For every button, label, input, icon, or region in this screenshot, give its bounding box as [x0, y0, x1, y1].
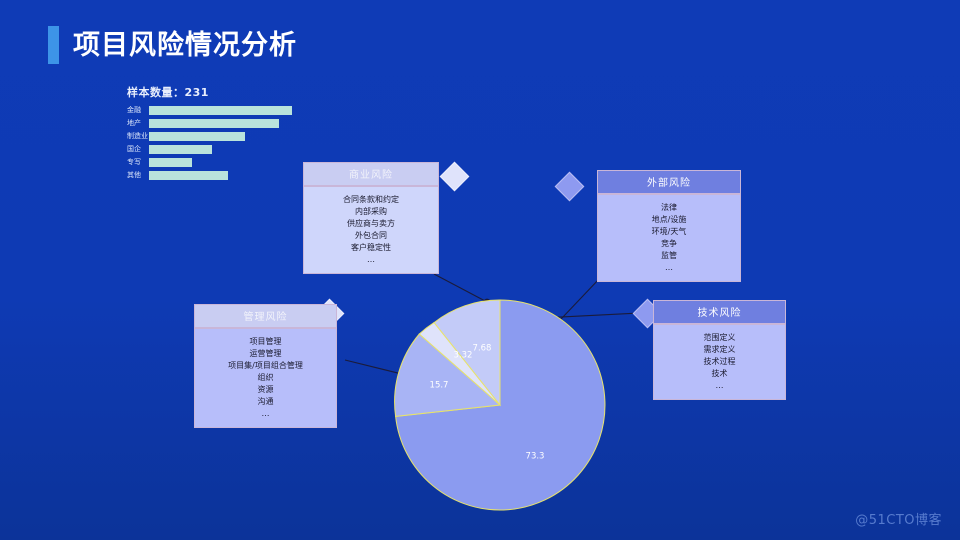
callout-item: 内部采购: [308, 206, 434, 218]
bar-track: [149, 145, 292, 154]
bar-fill: [149, 132, 245, 141]
callout-item: 范围定义: [658, 332, 781, 344]
title-accent-bar: [48, 26, 59, 64]
callout-item: 项目管理: [199, 336, 332, 348]
callout-item: …: [308, 254, 434, 266]
bar-track: [149, 132, 292, 141]
diamond-marker-business: [440, 162, 470, 192]
callout-body-management: 项目管理 运营管理 项目集/项目组合管理 组织 资源 沟通 …: [194, 328, 337, 428]
callout-header-external: 外部风险: [597, 170, 741, 194]
bar-label: 制造业: [127, 132, 149, 141]
bar-label: 国企: [127, 145, 149, 154]
pie-svg: 73.3 15.7 3.32 7.68: [393, 298, 607, 512]
callout-item: 技术过程: [658, 356, 781, 368]
callout-item: 项目集/项目组合管理: [199, 360, 332, 372]
sample-bar-chart: 样本数量：231 金融 地产 制造业 国企 专写: [127, 84, 292, 183]
callout-item: 资源: [199, 384, 332, 396]
callout-business[interactable]: 商业风险 合同条款和约定 内部采购 供应商与卖方 外包合同 客户稳定性 …: [303, 162, 439, 274]
callout-item: …: [602, 262, 736, 274]
bar-label: 其他: [127, 171, 149, 180]
callout-technical[interactable]: 技术风险 范围定义 需求定义 技术过程 技术 …: [653, 300, 786, 400]
callout-item: 合同条款和约定: [308, 194, 434, 206]
pie-label-technical: 7.68: [473, 344, 492, 354]
bar-row: 金融: [127, 105, 292, 115]
page-title: 项目风险情况分析: [48, 26, 297, 64]
callout-item: 监管: [602, 250, 736, 262]
bar-track: [149, 171, 292, 180]
callout-header-business: 商业风险: [303, 162, 439, 186]
bar-label: 金融: [127, 106, 149, 115]
bar-fill: [149, 171, 228, 180]
callout-item: 需求定义: [658, 344, 781, 356]
pie-label-external: 3.32: [454, 351, 473, 361]
title-text: 项目风险情况分析: [73, 32, 297, 59]
diamond-marker-external: [555, 172, 585, 202]
bar-row: 地产: [127, 118, 292, 128]
bar-chart-title: 样本数量：231: [127, 84, 292, 100]
bar-label: 地产: [127, 119, 149, 128]
watermark: @51CTO博客: [855, 509, 942, 528]
bar-track: [149, 119, 292, 128]
bar-fill: [149, 119, 279, 128]
bar-track: [149, 158, 292, 167]
pie-label-management: 73.3: [526, 452, 545, 462]
bar-row: 其他: [127, 170, 292, 180]
slide-canvas: 项目风险情况分析 样本数量：231 金融 地产 制造业 国企: [0, 0, 960, 540]
callout-item: …: [658, 380, 781, 392]
callout-item: 法律: [602, 202, 736, 214]
callout-item: 供应商与卖方: [308, 218, 434, 230]
risk-pie-chart: 73.3 15.7 3.32 7.68: [393, 298, 607, 512]
callout-body-technical: 范围定义 需求定义 技术过程 技术 …: [653, 324, 786, 400]
callout-management[interactable]: 管理风险 项目管理 运营管理 项目集/项目组合管理 组织 资源 沟通 …: [194, 304, 337, 428]
bar-row: 专写: [127, 157, 292, 167]
callout-item: 地点/设施: [602, 214, 736, 226]
bar-track: [149, 106, 292, 115]
callout-item: 环境/天气: [602, 226, 736, 238]
callout-header-technical: 技术风险: [653, 300, 786, 324]
callout-external[interactable]: 外部风险 法律 地点/设施 环境/天气 竞争 监管 …: [597, 170, 741, 282]
callout-item: 组织: [199, 372, 332, 384]
callout-item: 沟通: [199, 396, 332, 408]
bar-fill: [149, 158, 192, 167]
bar-row: 制造业: [127, 131, 292, 141]
callout-item: 外包合同: [308, 230, 434, 242]
bar-fill: [149, 106, 292, 115]
bar-fill: [149, 145, 212, 154]
callout-item: 运营管理: [199, 348, 332, 360]
callout-item: …: [199, 408, 332, 420]
pie-label-business: 15.7: [430, 381, 449, 391]
callout-item: 竞争: [602, 238, 736, 250]
callout-body-external: 法律 地点/设施 环境/天气 竞争 监管 …: [597, 194, 741, 282]
callout-item: 技术: [658, 368, 781, 380]
callout-header-management: 管理风险: [194, 304, 337, 328]
callout-item: 客户稳定性: [308, 242, 434, 254]
bar-label: 专写: [127, 158, 149, 167]
callout-body-business: 合同条款和约定 内部采购 供应商与卖方 外包合同 客户稳定性 …: [303, 186, 439, 274]
bar-row: 国企: [127, 144, 292, 154]
